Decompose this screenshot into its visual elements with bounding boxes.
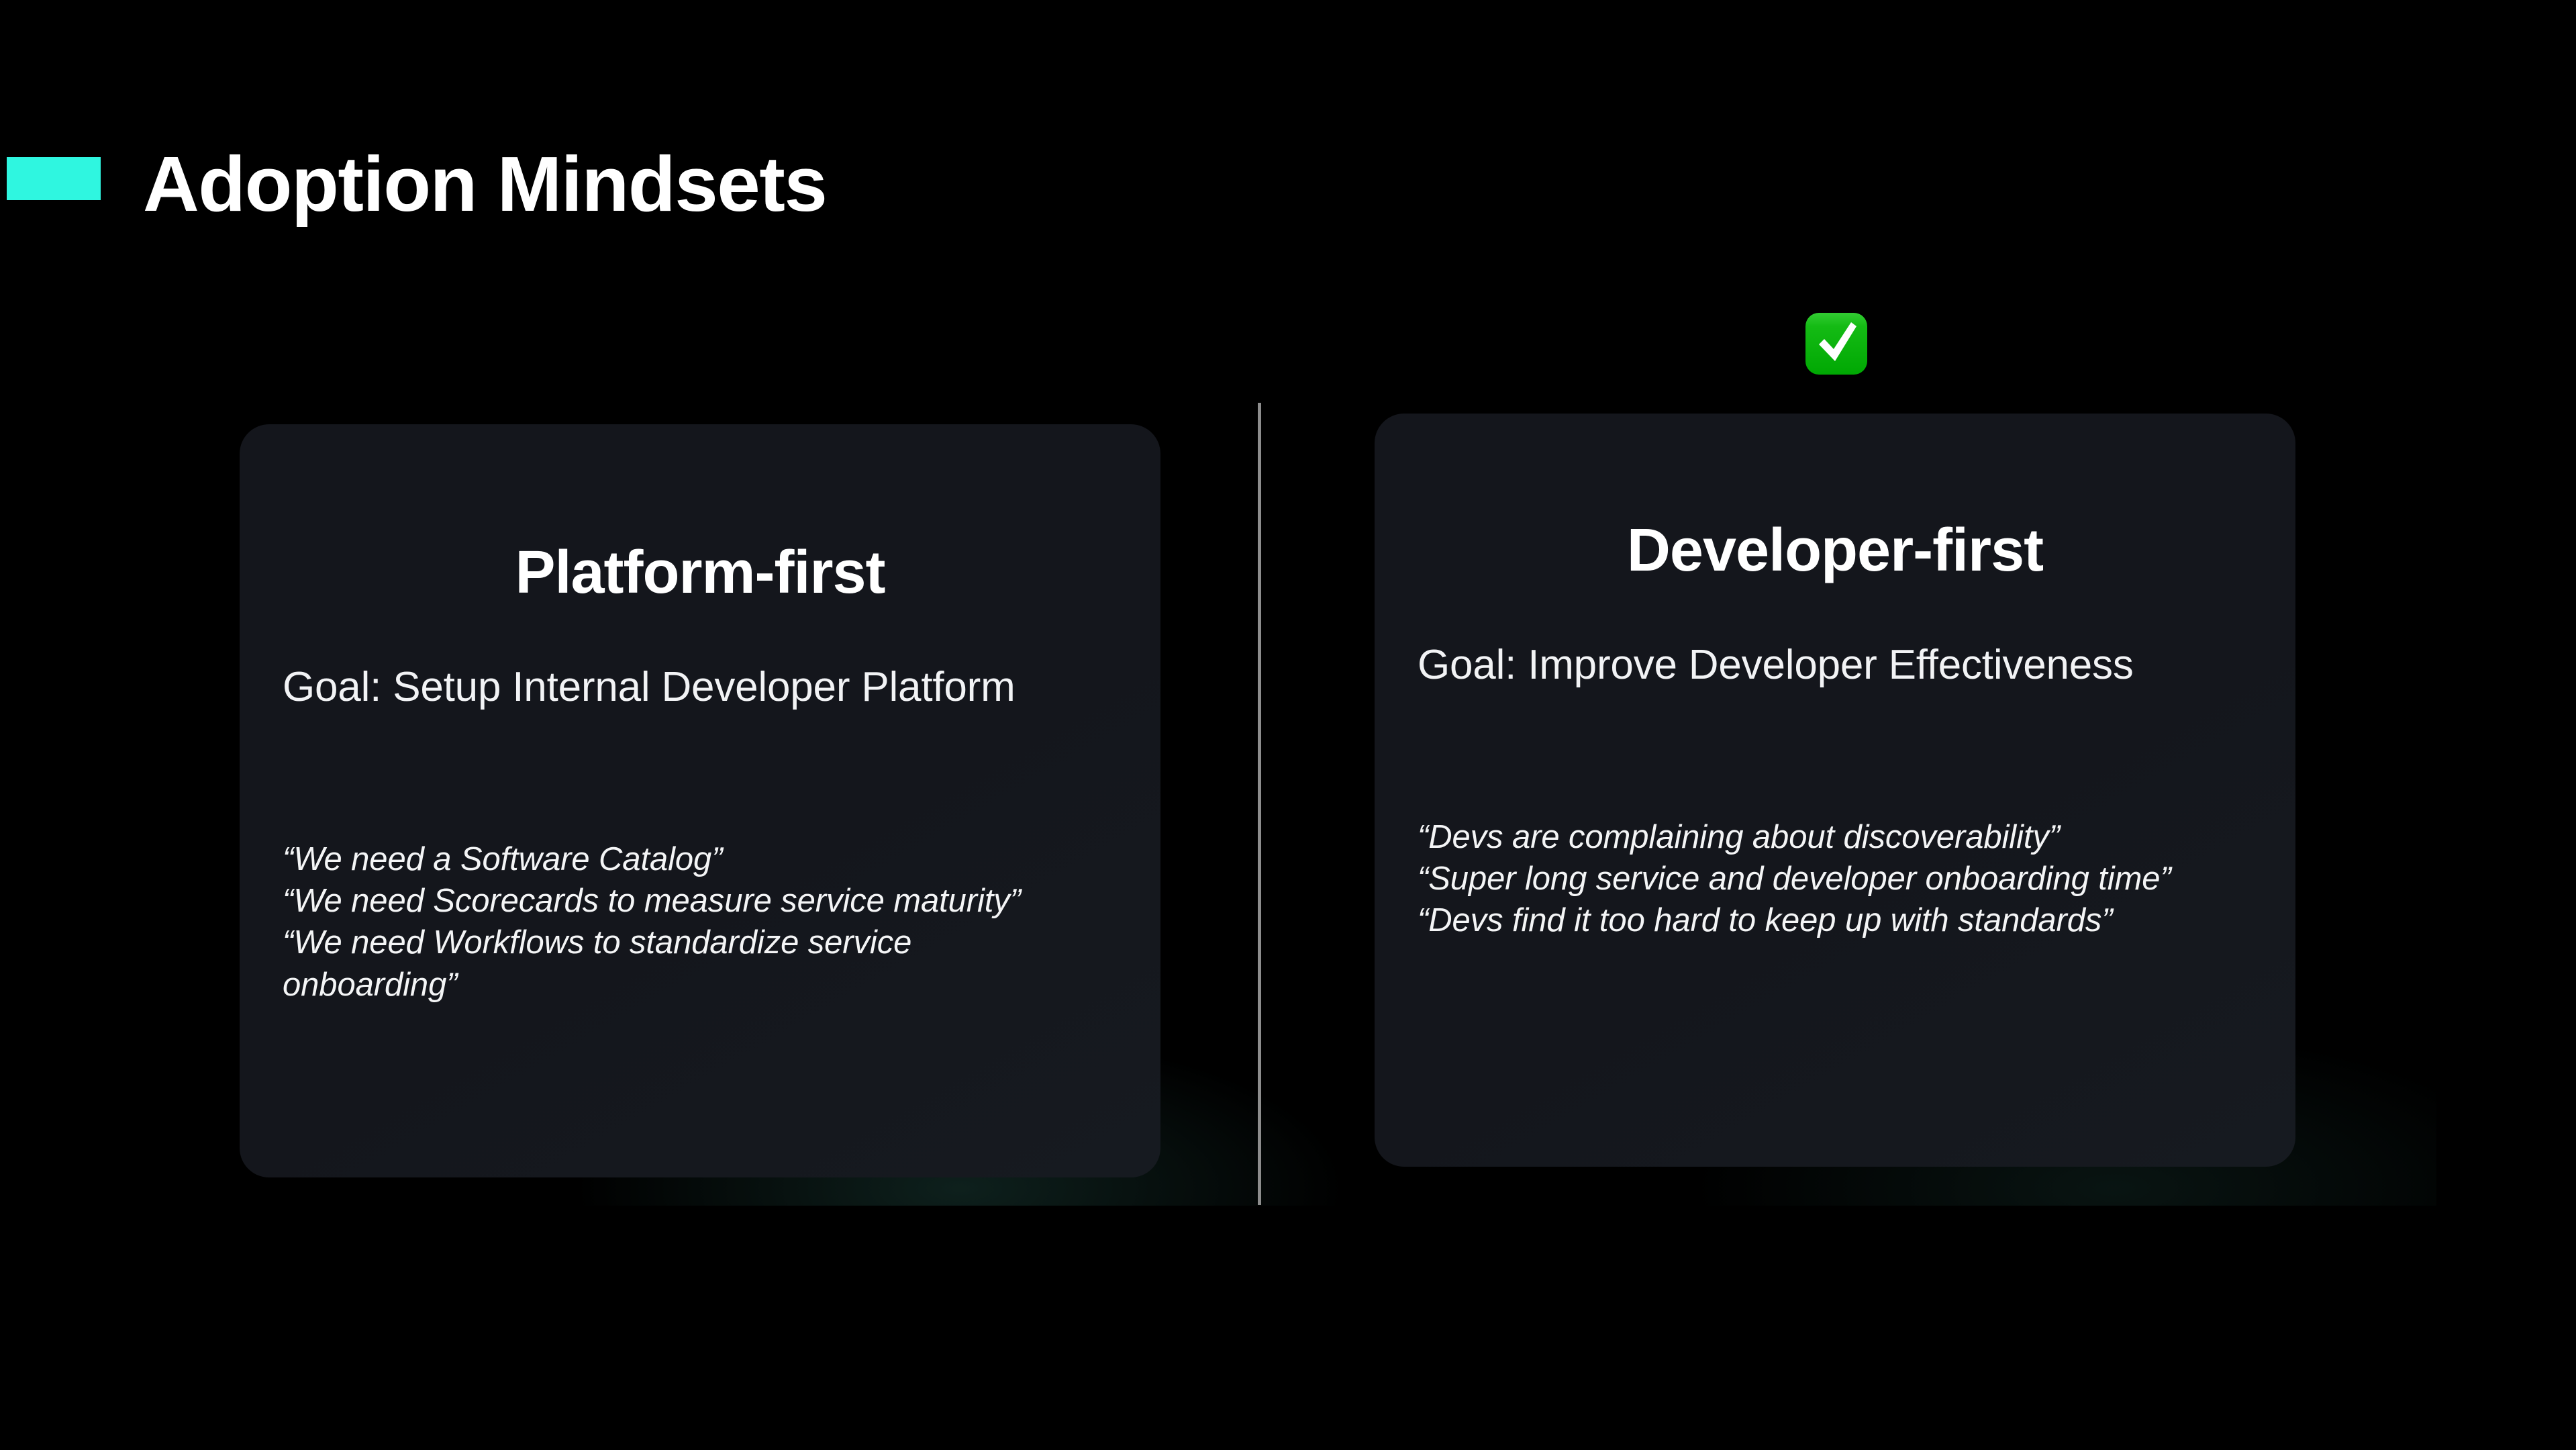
card-platform-first[interactable]: Platform-first Goal: Setup Internal Deve…: [240, 424, 1160, 1177]
card-title: Platform-first: [240, 540, 1160, 606]
slide-root: Adoption Mindsets Platform-first Goal: S…: [0, 0, 2576, 1450]
card-quote-list: “We need a Software Catalog” “We need Sc…: [283, 838, 1088, 1006]
card-quote: “Devs find it too hard to keep up with s…: [1418, 900, 2223, 941]
card-developer-first[interactable]: Developer-first Goal: Improve Developer …: [1375, 414, 2295, 1167]
check-mark-icon: [1804, 307, 1869, 381]
card-quote: “We need Workflows to standardize servic…: [283, 922, 1088, 1005]
slide-header: Adoption Mindsets: [0, 153, 2576, 234]
accent-bar: [7, 157, 101, 200]
card-quote: “Super long service and developer onboar…: [1418, 858, 2223, 900]
card-quote: “Devs are complaining about discoverabil…: [1418, 816, 2223, 858]
card-quote: “We need a Software Catalog”: [283, 838, 1088, 880]
card-goal: Goal: Setup Internal Developer Platform: [283, 659, 1048, 716]
card-goal: Goal: Improve Developer Effectiveness: [1418, 637, 2183, 693]
card-quote-list: “Devs are complaining about discoverabil…: [1418, 816, 2223, 942]
vertical-divider: [1258, 403, 1261, 1205]
card-quote: “We need Scorecards to measure service m…: [283, 880, 1088, 922]
page-title: Adoption Mindsets: [143, 136, 826, 233]
card-title: Developer-first: [1375, 518, 2295, 584]
